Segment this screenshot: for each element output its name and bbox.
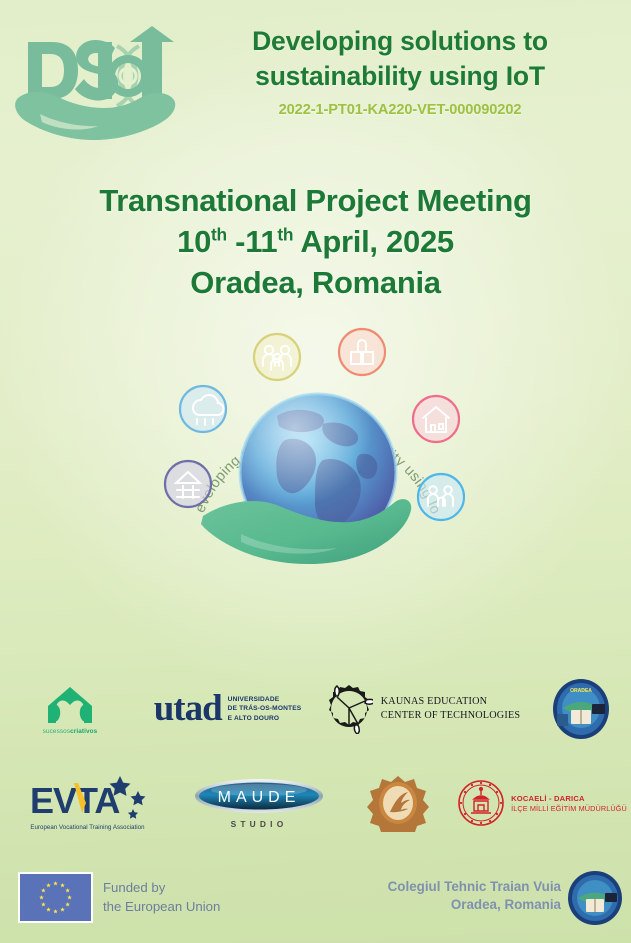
eu-funding-badge: Funded by the European Union xyxy=(18,872,220,923)
kaunas-gear-turbine-icon xyxy=(325,684,373,734)
central-globe-graphic: Developing solutions to sustainability u… xyxy=(155,320,480,590)
dsiot-logo xyxy=(12,24,177,142)
utad-subtitle: UNIVERSIDADE DE TRÁS-OS-MONTES E ALTO DO… xyxy=(228,695,302,722)
eu-funded-line2: the European Union xyxy=(103,898,220,917)
logo-oradea-crest[interactable]: ORADEA xyxy=(530,678,631,740)
icon-bubble-solar-panel xyxy=(165,461,211,507)
sucessos-criativos-label: sucessoscriativos xyxy=(43,728,98,735)
poster-canvas: Developing solutions to sustainability u… xyxy=(0,0,631,943)
meeting-date: 10th -11th April, 2025 xyxy=(0,221,631,262)
school-credit: Colegiul Tehnic Traian Vuia Oradea, Roma… xyxy=(388,878,561,914)
sc-label-light: sucessos xyxy=(43,728,70,735)
meeting-date-rest: April, 2025 xyxy=(293,224,454,259)
partner-logos-row-1: sucessoscriativos utad UNIVERSIDADE DE T… xyxy=(0,676,631,742)
kocaeli-text-block: KOCAELİ - DARICA İLÇE MİLLİ EĞİTİM MÜDÜR… xyxy=(511,794,627,813)
footer-school-crest-icon xyxy=(567,870,623,926)
kocaeli-line1: KOCAELİ - DARICA xyxy=(511,794,627,803)
school-credit-line1: Colegiul Tehnic Traian Vuia xyxy=(388,878,561,896)
maude-wordmark-text: MAUDE xyxy=(218,789,301,806)
maude-mark: MAUDE xyxy=(193,777,325,815)
logo-sucessos-criativos[interactable]: sucessoscriativos xyxy=(0,684,140,735)
poster-title-line2: sustainability using IoT xyxy=(180,59,620,94)
evta-mark: EVTA xyxy=(28,775,148,823)
school-credit-line2: Oradea, Romania xyxy=(388,896,561,914)
poster-header: Developing solutions to sustainability u… xyxy=(0,0,631,152)
logo-kocaeli-darica[interactable]: KOCAELİ - DARICA İLÇE MİLLİ EĞİTİM MÜDÜR… xyxy=(453,779,631,827)
icon-bubble-people-group xyxy=(254,334,300,380)
kocaeli-line2: İLÇE MİLLİ EĞİTİM MÜDÜRLÜĞÜ xyxy=(511,804,627,813)
meeting-title: Transnational Project Meeting xyxy=(0,180,631,221)
kaunas-line2: CENTER OF TECHNOLOGIES xyxy=(381,709,520,723)
logo-maude-studio[interactable]: MAUDE STUDIO xyxy=(175,777,343,829)
oradea-school-crest-icon: ORADEA xyxy=(551,678,611,740)
sc-label-bold: criativos xyxy=(70,728,97,735)
logo-utad[interactable]: utad UNIVERSIDADE DE TRÁS-OS-MONTES E AL… xyxy=(140,693,315,724)
icon-bubble-family-home xyxy=(418,474,464,520)
eu-flag-icon xyxy=(18,872,93,923)
icon-bubble-cloud-rain xyxy=(180,386,226,432)
sucessos-criativos-mark xyxy=(41,684,99,726)
meeting-date-separator: - xyxy=(227,224,245,259)
header-text-block: Developing solutions to sustainability u… xyxy=(180,24,620,118)
meeting-date-day2: 11 xyxy=(245,224,277,259)
oradea-crest-label: ORADEA xyxy=(570,688,592,694)
icon-bubble-house-community xyxy=(413,396,459,442)
kaunas-line1: KAUNAS EDUCATION xyxy=(381,695,520,709)
partner-logos-row-2: EVTA European Vocational Training Associ… xyxy=(0,770,631,836)
poster-footer: Funded by the European Union Colegiul Te… xyxy=(0,862,631,943)
meeting-info-block: Transnational Project Meeting 10th -11th… xyxy=(0,180,631,304)
logo-kaunas-education-center[interactable]: KAUNAS EDUCATION CENTER OF TECHNOLOGIES xyxy=(315,684,530,734)
meeting-date-sup2: th xyxy=(277,225,293,245)
gear-emblem-icon xyxy=(367,774,429,832)
maude-subtitle: STUDIO xyxy=(231,819,288,829)
utad-sub-line2: DE TRÁS-OS-MONTES xyxy=(228,704,302,713)
meeting-date-day1: 10 xyxy=(177,224,211,259)
meeting-date-sup1: th xyxy=(211,225,227,245)
utad-sub-line1: UNIVERSIDADE xyxy=(228,695,302,704)
eu-funded-line1: Funded by xyxy=(103,879,220,898)
poster-title-line1: Developing solutions to xyxy=(180,24,620,59)
logo-evta[interactable]: EVTA European Vocational Training Associ… xyxy=(0,775,175,831)
utad-wordmark: utad xyxy=(154,693,222,724)
kocaeli-seal-icon xyxy=(457,779,505,827)
evta-subtitle: European Vocational Training Association xyxy=(30,824,144,831)
meeting-location: Oradea, Romania xyxy=(0,262,631,303)
project-code: 2022-1-PT01-KA220-VET-000090202 xyxy=(180,102,620,118)
eu-funded-text: Funded by the European Union xyxy=(103,879,220,916)
kaunas-text: KAUNAS EDUCATION CENTER OF TECHNOLOGIES xyxy=(381,695,520,724)
utad-sub-line3: E ALTO DOURO xyxy=(228,714,302,723)
logo-gear-emblem[interactable] xyxy=(343,774,453,832)
icon-bubble-factory-industry xyxy=(339,329,385,375)
